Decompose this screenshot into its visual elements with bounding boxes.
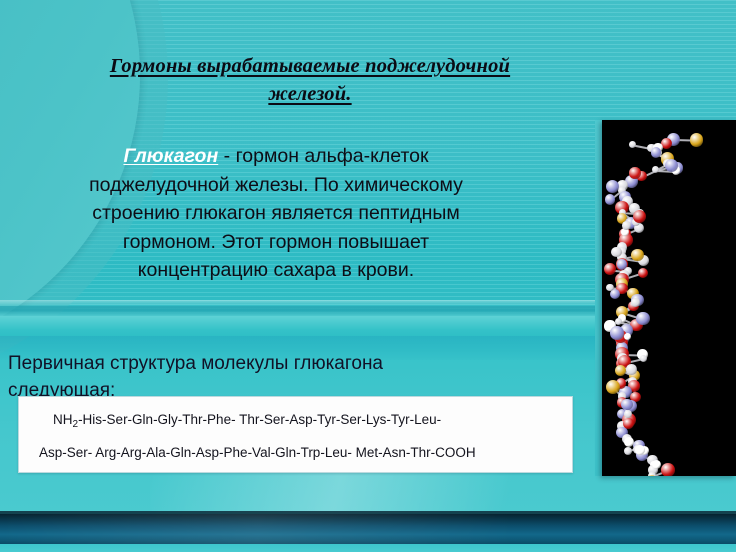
- paragraph-keyword: Глюкагон: [123, 145, 218, 167]
- molecule-atom: [615, 365, 626, 376]
- slide-paragraph: Глюкагон - гормон альфа-клеток поджелудо…: [66, 142, 486, 285]
- molecule-atom: [622, 221, 631, 230]
- molecule-atom: [690, 133, 704, 147]
- molecule-atom: [629, 167, 641, 179]
- molecule-atom: [624, 447, 632, 455]
- molecule-atom: [652, 460, 662, 470]
- molecule-atom: [661, 463, 675, 476]
- molecule-atom: [611, 247, 622, 258]
- molecule-atom: [606, 284, 613, 291]
- molecule-atom: [623, 418, 634, 429]
- molecule-atom: [636, 312, 649, 325]
- molecule-atom: [606, 380, 620, 394]
- image-left-edge-strip: [595, 120, 602, 476]
- footer-band: [0, 514, 736, 544]
- molecule-atom: [631, 249, 643, 261]
- molecule-atom: [617, 259, 628, 270]
- molecule-atom: [621, 399, 633, 411]
- molecule-atom: [605, 194, 616, 205]
- slide-title: Гормоны вырабатываемые поджелудочной жел…: [76, 52, 544, 108]
- sequence-line-1: NH2-His-Ser-Gln-Gly-Thr-Phe- Thr-Ser-Asp…: [29, 406, 562, 439]
- slide-title-text: Гормоны вырабатываемые поджелудочной жел…: [110, 55, 510, 105]
- molecule-atom: [606, 180, 619, 193]
- molecule-atom: [652, 166, 660, 174]
- slide-canvas: Гормоны вырабатываемые поджелудочной жел…: [0, 0, 736, 552]
- molecule-atom: [610, 326, 623, 339]
- footer-bottom-strip: [0, 544, 736, 552]
- molecule-atom: [626, 364, 636, 374]
- molecule-atom: [624, 410, 632, 418]
- molecule-atom: [604, 263, 616, 275]
- molecule-atom: [635, 445, 645, 455]
- molecule-atom: [638, 268, 648, 278]
- sequence-line-2: Asp-Ser- Arg-Arg-Ala-Gln-Asp-Phe-Val-Gln…: [29, 439, 562, 467]
- sequence-line-1-residues: -His-Ser-Gln-Gly-Thr-Phe- Thr-Ser-Asp-Ty…: [78, 412, 441, 427]
- molecule-atom: [640, 355, 647, 362]
- amino-terminus-label: NH: [53, 412, 73, 427]
- peptide-sequence-box: NH2-His-Ser-Gln-Gly-Thr-Phe- Thr-Ser-Asp…: [18, 396, 573, 473]
- glucagon-molecule-image: [602, 120, 736, 476]
- molecule-atom: [624, 333, 631, 340]
- molecule-atom: [633, 210, 646, 223]
- molecule-atom: [646, 475, 657, 476]
